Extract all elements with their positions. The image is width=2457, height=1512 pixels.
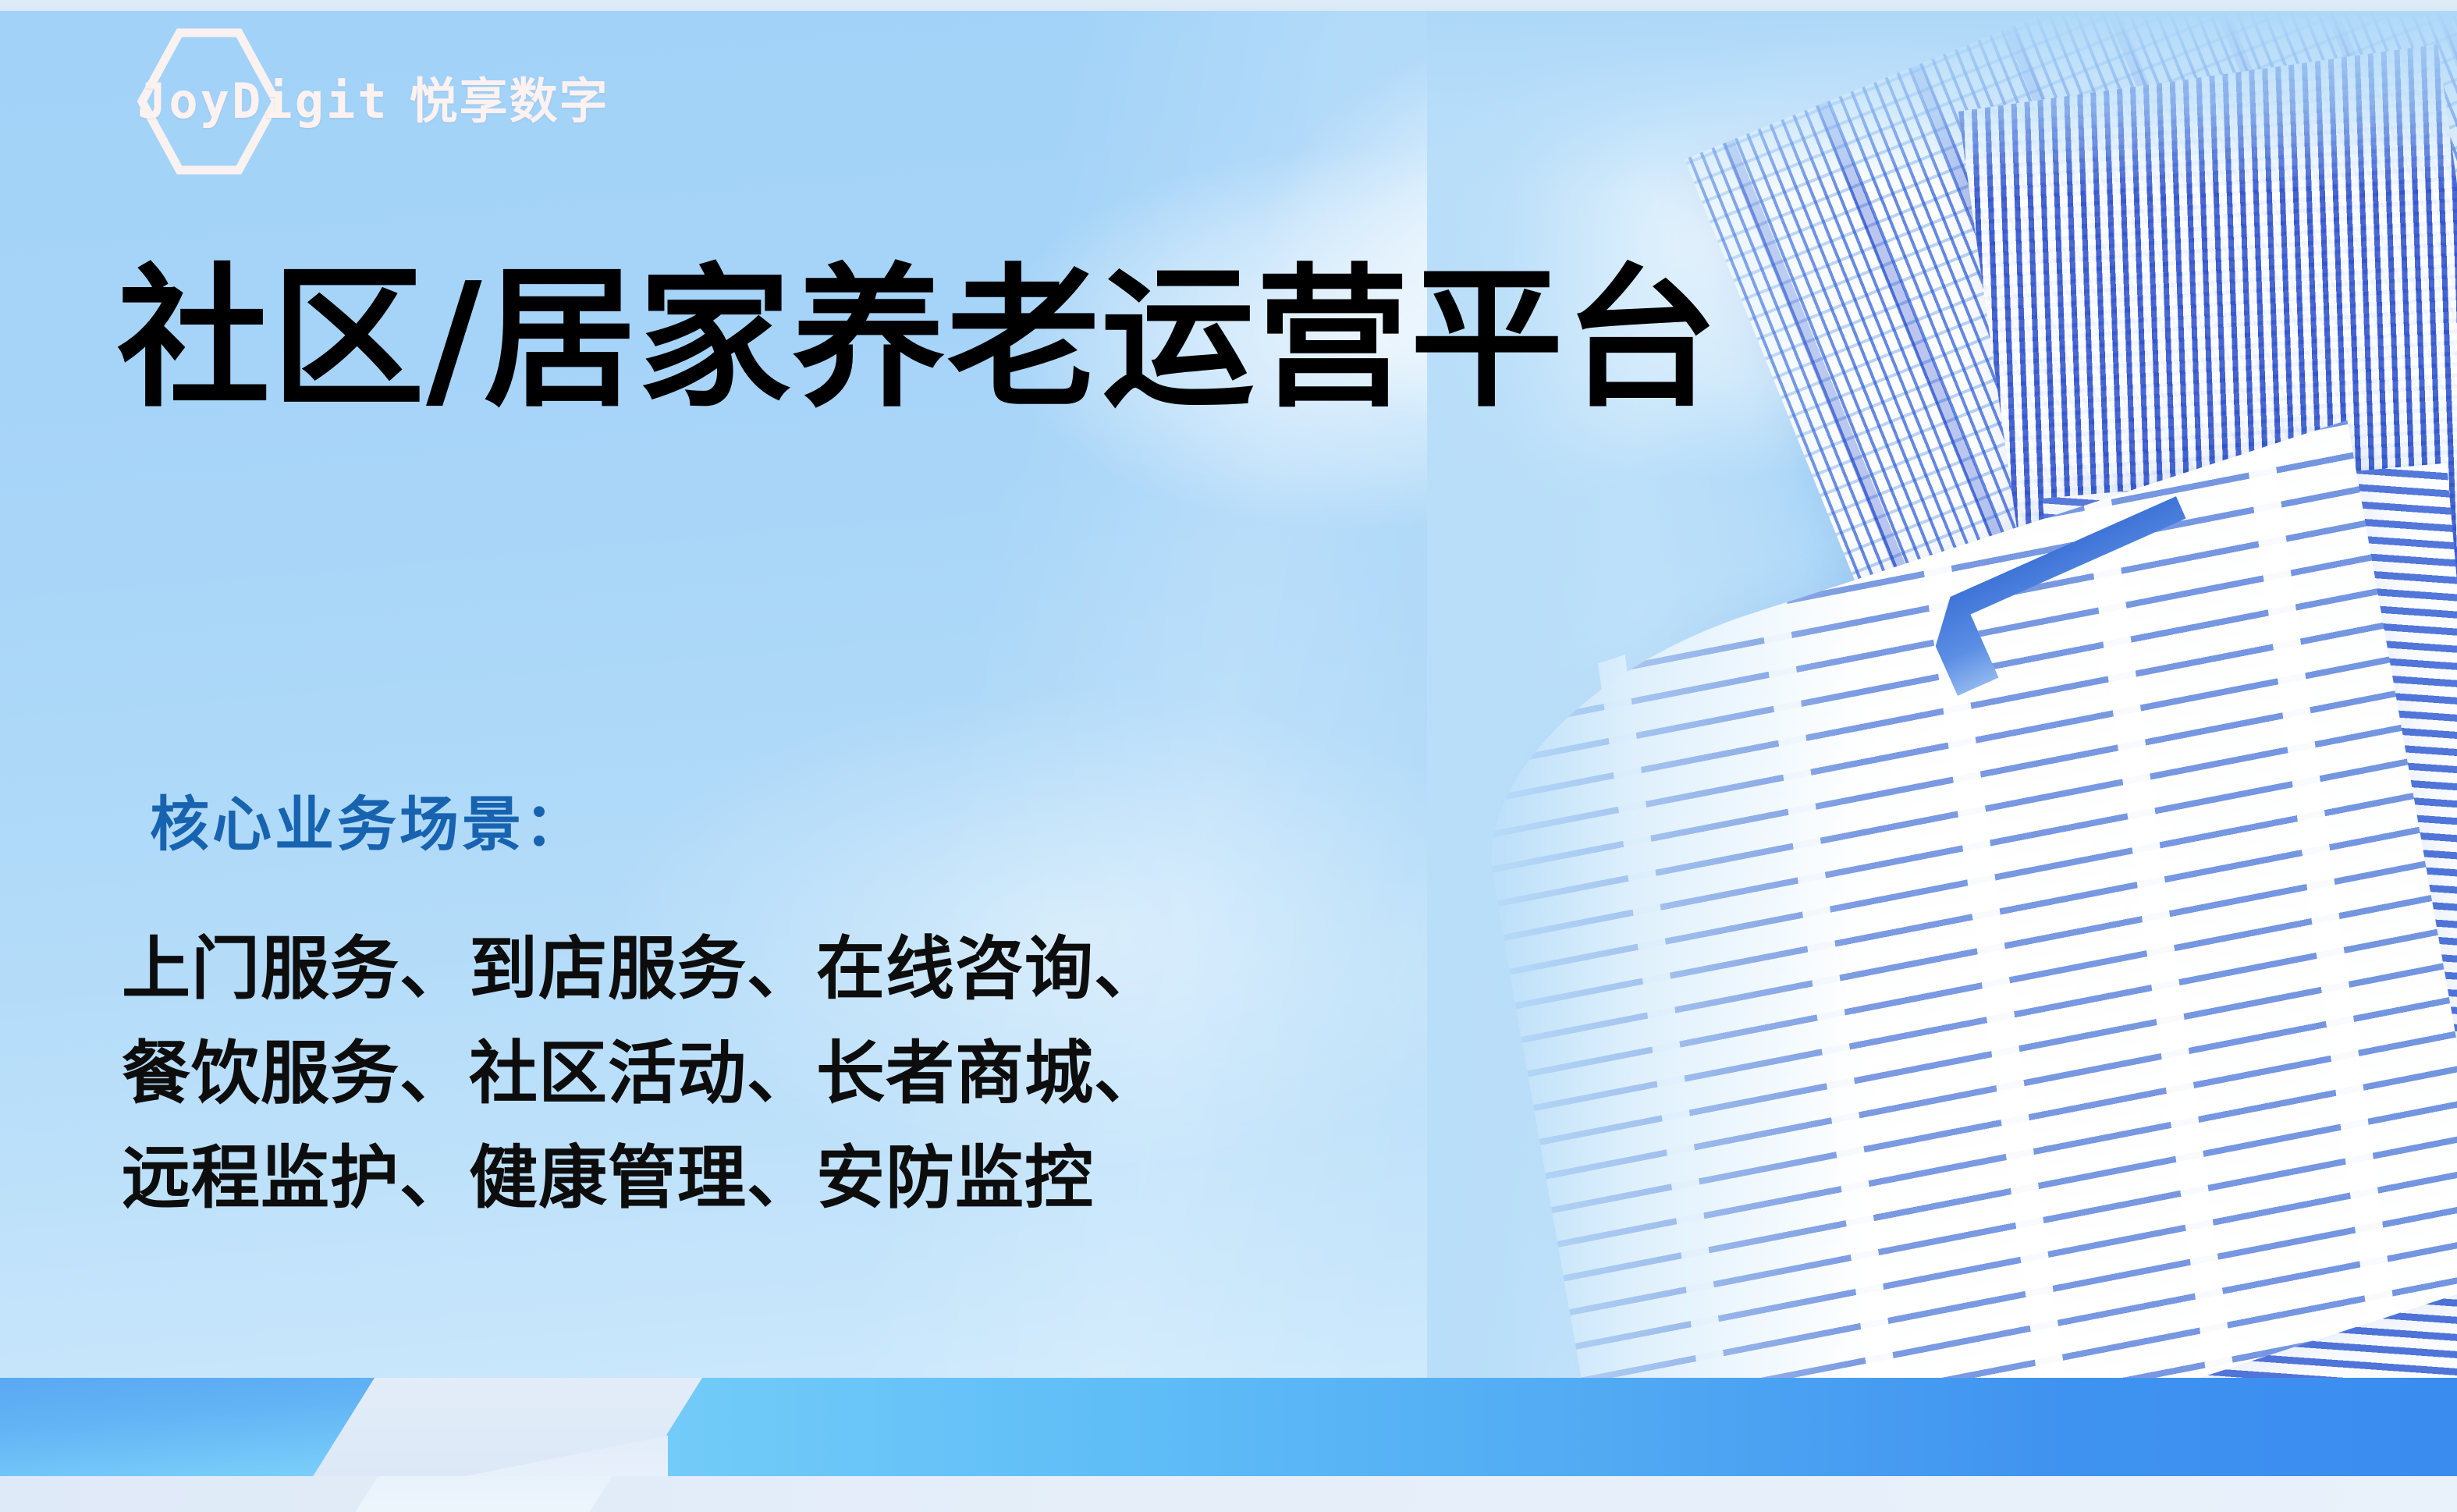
section-label: 核心业务场景：	[150, 776, 587, 862]
scenario-line-1: 上门服务、到店服务、在线咨询、	[122, 917, 1163, 1021]
photo-top-fade	[1427, 11, 2457, 190]
brand-wordmark: JoyDigit	[137, 77, 389, 126]
photo-left-fade	[1427, 11, 1864, 1378]
brand-chinese-name: 悦享数字	[410, 77, 609, 126]
scenario-list: 上门服务、到店服务、在线咨询、 餐饮服务、社区活动、长者商城、 远程监护、健康管…	[122, 917, 1163, 1230]
top-edge-strip	[0, 0, 2457, 11]
skyscraper-photo	[1427, 11, 2457, 1378]
page-title: 社区/居家养老运营平台	[117, 257, 1720, 423]
scenario-line-2: 餐饮服务、社区活动、长者商城、	[122, 1021, 1163, 1126]
brand-logo: JoyDigit 悦享数字	[137, 61, 609, 142]
scenario-line-3: 远程监护、健康管理、安防监控	[122, 1126, 1163, 1230]
slide-root: JoyDigit 悦享数字 社区/居家养老运营平台 核心业务场景： 上门服务、到…	[0, 0, 2457, 1512]
band-underbar-slash	[356, 1476, 612, 1512]
footer-band	[0, 1378, 2457, 1512]
